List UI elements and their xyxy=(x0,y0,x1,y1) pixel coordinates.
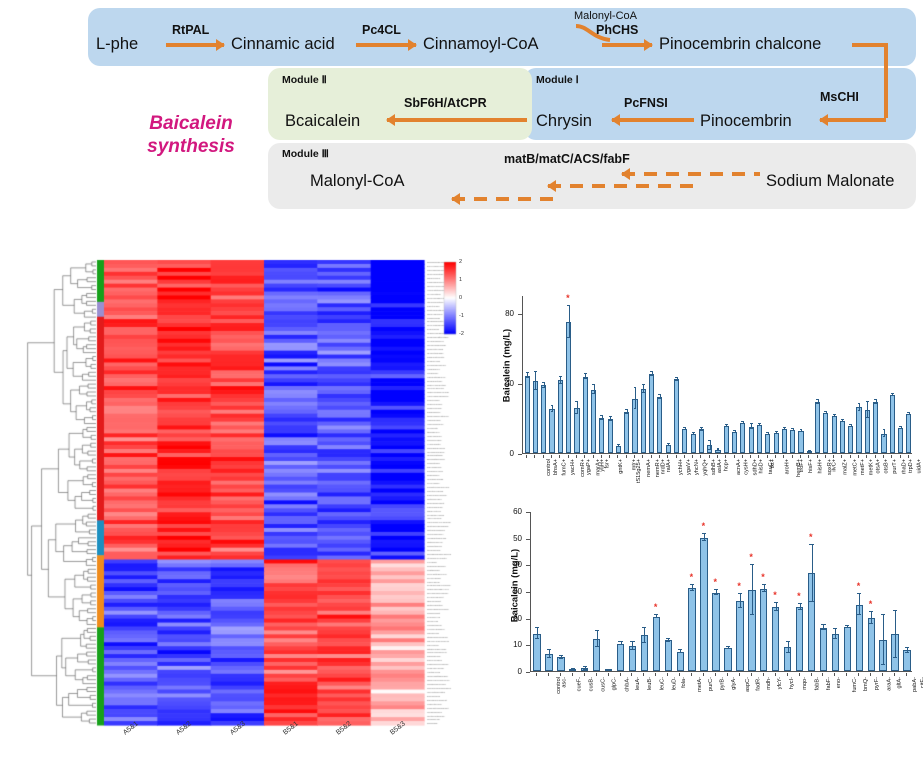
x-axis-tick xyxy=(620,673,621,676)
x-axis-tick xyxy=(584,673,585,676)
x-axis-tick xyxy=(551,455,552,458)
x-axis-tick xyxy=(692,455,693,458)
error-bar-cap xyxy=(634,387,637,388)
error-bar-cap xyxy=(733,432,736,433)
bar xyxy=(558,380,563,453)
x-axis-label: cysH+ xyxy=(744,459,750,475)
error-bar-cap xyxy=(559,376,562,377)
y-axis-tick xyxy=(518,454,522,455)
x-axis-label: glyA- xyxy=(730,677,736,690)
arrow-mschi xyxy=(820,118,886,122)
error-bar-cap xyxy=(683,427,686,428)
x-axis-tick xyxy=(601,455,602,458)
x-axis-label: malZ+ xyxy=(843,459,849,475)
significance-star: * xyxy=(737,582,741,591)
error-bar-cap xyxy=(849,426,852,427)
error-bar-cap xyxy=(617,444,620,445)
error-bar-cap xyxy=(654,617,658,618)
error-bar-cap xyxy=(575,413,578,414)
error-bar-cap xyxy=(692,432,695,433)
bar xyxy=(674,379,679,453)
error-bar-cap xyxy=(798,603,802,604)
bar xyxy=(757,425,762,453)
x-axis-tick xyxy=(534,455,535,458)
error-bar-cap xyxy=(600,419,603,420)
error-bar-cap xyxy=(609,420,612,421)
colorbar-tick-label: 1 xyxy=(459,277,462,283)
error-bar-cap xyxy=(866,417,869,418)
x-axis-label: hisF+ xyxy=(808,459,814,473)
significance-star: * xyxy=(654,603,658,612)
significance-star: * xyxy=(857,582,861,591)
error-bar-cap xyxy=(833,414,836,415)
bar xyxy=(856,407,861,453)
significance-star: * xyxy=(809,533,813,542)
error-bar-cap xyxy=(702,533,706,534)
error-bar xyxy=(535,372,536,390)
x-axis-label: ygaV+ xyxy=(686,459,692,475)
x-axis-tick xyxy=(543,455,544,458)
x-axis-label: mtr+ xyxy=(631,459,637,470)
y-axis-label: 40 xyxy=(488,379,514,388)
x-axis-tick xyxy=(703,673,704,676)
error-bar-cap xyxy=(833,416,836,417)
y-axis-label: 40 xyxy=(496,560,522,569)
error-bar-cap xyxy=(891,395,894,396)
arrow-phchs xyxy=(602,43,652,47)
x-axis-tick xyxy=(858,673,859,676)
error-bar xyxy=(740,594,741,608)
error-bar-cap xyxy=(625,409,628,410)
error-bar-cap xyxy=(899,426,902,427)
error-bar-cap xyxy=(617,446,620,447)
y-axis-tick xyxy=(526,565,530,566)
error-bar-cap xyxy=(535,638,539,639)
error-bar-cap xyxy=(725,426,728,427)
bar xyxy=(798,431,803,453)
x-axis-tick xyxy=(709,455,710,458)
error-bar-cap xyxy=(658,398,661,399)
error-bar-cap xyxy=(642,392,645,393)
bar xyxy=(906,414,911,453)
x-axis-tick xyxy=(609,455,610,458)
error-bar-cap xyxy=(893,657,897,658)
x-axis-label: eno- xyxy=(836,677,842,688)
x-axis-label: leuB- xyxy=(647,677,653,690)
y-axis-tick xyxy=(526,512,530,513)
error-bar-cap xyxy=(595,630,599,631)
x-axis-label: control xyxy=(555,677,561,694)
pathway-elbow-h xyxy=(852,43,888,47)
arrow-sbf6h-atcpr xyxy=(387,118,527,122)
x-axis-label: otsA+ xyxy=(875,459,881,473)
error-bar-cap xyxy=(733,430,736,431)
x-axis-tick xyxy=(679,673,680,676)
x-axis-label: control xyxy=(546,459,552,476)
error-bar-cap xyxy=(786,652,790,653)
arrow-module3-1 xyxy=(622,172,760,176)
x-axis-label: nemA+ xyxy=(646,459,652,477)
x-axis-label: aslA+ xyxy=(717,459,723,473)
error-bar-cap xyxy=(667,443,670,444)
error-bar-cap xyxy=(526,377,529,378)
x-axis-tick xyxy=(727,673,728,676)
x-axis-label: glpC- xyxy=(612,677,618,690)
x-axis-tick xyxy=(593,455,594,458)
x-axis-label: hisH+ xyxy=(817,459,823,473)
x-axis-tick xyxy=(882,673,883,676)
x-axis-tick xyxy=(758,455,759,458)
x-axis-label: bhsA+ xyxy=(553,459,559,475)
x-axis-label: fumC- xyxy=(852,677,858,692)
x-axis-label: uidA+ xyxy=(917,459,923,473)
error-bar xyxy=(883,615,884,666)
bar xyxy=(774,433,779,453)
x-axis-tick xyxy=(811,673,812,676)
metabolite-pinocembrin-chalcone: Pinocembrin chalcone xyxy=(659,35,821,54)
error-bar-cap xyxy=(808,451,811,452)
significance-star: * xyxy=(761,573,765,582)
bar xyxy=(653,617,660,671)
bar xyxy=(641,389,646,453)
error-bar-cap xyxy=(642,384,645,385)
error-bar-cap xyxy=(571,669,575,670)
x-axis-tick xyxy=(617,455,618,458)
error-bar-cap xyxy=(821,629,825,630)
significance-star: * xyxy=(690,573,694,582)
x-axis-label: fadR- xyxy=(755,677,761,691)
bar xyxy=(649,374,654,453)
y-axis-tick xyxy=(518,314,522,315)
error-bar-cap xyxy=(595,646,599,647)
x-axis-tick xyxy=(787,673,788,676)
bar xyxy=(533,381,538,453)
x-axis-label: fabF- xyxy=(826,677,832,690)
error-bar-cap xyxy=(575,401,578,402)
x-axis-tick xyxy=(883,455,884,458)
error-bar-cap xyxy=(738,607,742,608)
bar xyxy=(583,377,588,453)
x-axis-label: leuD- xyxy=(671,677,677,690)
bar xyxy=(736,601,743,671)
x-axis-tick xyxy=(548,673,549,676)
metabolite-pinocembrin: Pinocembrin xyxy=(700,112,792,131)
significance-star: * xyxy=(714,578,718,587)
significance-star: * xyxy=(749,553,753,562)
bar xyxy=(700,538,707,671)
x-axis-tick xyxy=(763,673,764,676)
colorbar-tick-label: 2 xyxy=(459,259,462,265)
bar xyxy=(782,429,787,453)
x-axis-tick xyxy=(634,455,635,458)
x-axis-label: aroH+ xyxy=(785,459,791,474)
error-bar-cap xyxy=(750,428,753,429)
x-axis-label: ralA+ xyxy=(666,459,672,472)
bar xyxy=(724,648,731,671)
bar-chart-knockout: Baicalein (mg/L) ************ controlasc… xyxy=(488,508,918,738)
error-bar-cap xyxy=(634,408,637,409)
error-bar-cap xyxy=(893,610,897,611)
bar xyxy=(848,426,853,453)
bar xyxy=(557,657,564,671)
bar xyxy=(740,423,745,453)
error-bar-cap xyxy=(845,625,849,626)
x-axis-label: pyrF- xyxy=(874,677,880,690)
x-axis-tick xyxy=(870,673,871,676)
error-bar-cap xyxy=(702,540,706,541)
error-bar-cap xyxy=(858,410,861,411)
x-axis-label: acnA+ xyxy=(736,459,742,475)
bar xyxy=(873,402,878,453)
error-bar-cap xyxy=(535,627,539,628)
x-axis-label: hcp+ xyxy=(724,459,730,471)
x-axis-label: hisD+ xyxy=(759,459,765,473)
significance-star: * xyxy=(869,600,873,609)
module-3-label: Module Ⅲ xyxy=(282,148,329,160)
x-axis-tick xyxy=(596,673,597,676)
error-bar-cap xyxy=(547,657,551,658)
x-axis-tick xyxy=(667,455,668,458)
x-axis-tick xyxy=(684,455,685,458)
error-bar-cap xyxy=(874,403,877,404)
x-axis-tick xyxy=(659,455,660,458)
bar-chart-overexpression: Baicalein (mg/L) * controlbhsA+fumC+yacH… xyxy=(488,292,918,502)
y-axis-tick xyxy=(526,619,530,620)
x-axis-label: yqhQ+ xyxy=(703,459,709,476)
x-axis-label: metK+ xyxy=(869,459,875,475)
error-bar-cap xyxy=(678,652,682,653)
x-axis-tick xyxy=(783,455,784,458)
bar xyxy=(599,418,604,453)
x-axis-tick xyxy=(767,455,768,458)
bar xyxy=(790,430,795,453)
metabolite-baicalein: Bcaicalein xyxy=(285,112,360,131)
significance-star: * xyxy=(797,592,801,601)
bar xyxy=(624,412,629,453)
error-bar-cap xyxy=(750,423,753,424)
y-axis-tick xyxy=(526,645,530,646)
x-axis-tick xyxy=(568,455,569,458)
x-axis-tick xyxy=(715,673,716,676)
error-bar-cap xyxy=(774,610,778,611)
arrow-pcfnsi xyxy=(612,118,694,122)
bar xyxy=(688,588,695,671)
arrow-module3-2 xyxy=(548,184,698,188)
error-bar-cap xyxy=(708,449,711,450)
error-bar-cap xyxy=(592,384,595,385)
x-axis-tick xyxy=(841,455,842,458)
x-axis-label: araA- xyxy=(887,677,893,691)
x-axis-tick xyxy=(642,455,643,458)
x-axis-tick xyxy=(700,455,701,458)
bar xyxy=(682,429,687,453)
bar xyxy=(832,634,839,671)
x-axis-label: metA- xyxy=(697,677,703,692)
module-2-label: Module Ⅱ xyxy=(282,74,327,86)
y-axis-label: 80 xyxy=(488,309,514,318)
x-axis-label: gntK+ xyxy=(618,459,624,474)
x-axis-label: otsB+ xyxy=(883,459,889,473)
error-bar xyxy=(895,611,896,657)
bar xyxy=(525,376,530,453)
x-axis-label: ilvC+ xyxy=(832,459,838,472)
error-bar-cap xyxy=(583,669,587,670)
error-bar xyxy=(597,631,598,647)
error-bar-cap xyxy=(567,305,570,306)
bar xyxy=(796,607,803,671)
error-bar-cap xyxy=(559,383,562,384)
error-bar-cap xyxy=(551,405,554,406)
error-bar-cap xyxy=(833,628,837,629)
error-bar-cap xyxy=(592,393,595,394)
error-bar-cap xyxy=(534,371,537,372)
figure-title-line2: synthesis xyxy=(147,136,235,157)
error-bar-cap xyxy=(583,666,587,667)
bar xyxy=(591,390,596,453)
chart-bottom-plot-area: ************ xyxy=(530,512,912,672)
error-bar-cap xyxy=(791,428,794,429)
error-bar-cap xyxy=(692,434,695,435)
error-bar-cap xyxy=(690,584,694,585)
x-axis-tick xyxy=(750,455,751,458)
bar xyxy=(712,593,719,671)
bar xyxy=(666,445,671,453)
error-bar-cap xyxy=(630,649,634,650)
x-axis-tick xyxy=(751,673,752,676)
y-axis-label: 50 xyxy=(496,534,522,543)
x-axis-label: tkt+ xyxy=(770,459,776,468)
error-bar-cap xyxy=(774,602,778,603)
error-bar-cap xyxy=(869,611,873,612)
bar xyxy=(691,434,696,453)
error-bar-cap xyxy=(666,641,670,642)
error-bar-cap xyxy=(618,641,622,642)
x-axis-tick xyxy=(906,673,907,676)
x-axis-tick xyxy=(792,455,793,458)
x-axis-label: sdhB+ xyxy=(711,459,717,475)
x-axis-label: ychH+ xyxy=(678,459,684,475)
error-bar-cap xyxy=(786,641,790,642)
x-axis-tick xyxy=(739,673,740,676)
y-axis-tick xyxy=(526,672,530,673)
x-axis-label: pyrB- xyxy=(719,677,725,690)
x-axis-label: yfcY- xyxy=(778,677,784,689)
x-axis-label: cusB- xyxy=(589,677,595,691)
error-bar-cap xyxy=(683,429,686,430)
error-bar-cap xyxy=(775,433,778,434)
error-bar-cap xyxy=(762,591,766,592)
colorbar-tick-label: -2 xyxy=(459,331,464,337)
x-axis-tick xyxy=(584,455,585,458)
error-bar-cap xyxy=(750,614,754,615)
arrow-module3-3 xyxy=(452,197,556,201)
bar xyxy=(566,322,571,453)
error-bar-cap xyxy=(766,434,769,435)
error-bar-cap xyxy=(584,373,587,374)
error-bar-cap xyxy=(618,644,622,645)
x-axis-label: fsr+ xyxy=(605,459,611,468)
error-bar-cap xyxy=(726,648,730,649)
error-bar-cap xyxy=(690,590,694,591)
error-bar-cap xyxy=(600,415,603,416)
bar xyxy=(898,428,903,453)
error-bar-cap xyxy=(675,377,678,378)
x-axis-label: purT+ xyxy=(892,459,898,474)
bar xyxy=(617,644,624,671)
x-axis-tick xyxy=(742,455,743,458)
bar xyxy=(616,446,621,453)
error-bar-cap xyxy=(658,394,661,395)
error-bar-cap xyxy=(857,614,861,615)
x-axis-tick xyxy=(576,455,577,458)
enzyme-sbf6h-atcpr: SbF6H/AtCPR xyxy=(404,96,487,110)
y-axis-label: 60 xyxy=(496,507,522,516)
enzyme-mschi: MsCHI xyxy=(820,90,859,104)
bar xyxy=(765,434,770,453)
error-bar-cap xyxy=(559,655,563,656)
error-bar-cap xyxy=(725,424,728,425)
enzyme-pcfnsi: PcFNSI xyxy=(624,96,668,110)
pathway-elbow-v xyxy=(884,43,888,118)
x-axis-tick xyxy=(667,673,668,676)
x-axis-tick xyxy=(808,455,809,458)
error-bar-cap xyxy=(858,403,861,404)
x-axis-label: bmQ- xyxy=(863,677,869,691)
error-bar-cap xyxy=(700,427,703,428)
error-bar-cap xyxy=(741,421,744,422)
error-bar xyxy=(569,306,570,338)
x-axis-label: aspC- xyxy=(744,677,750,692)
bar xyxy=(844,627,851,671)
error-bar-cap xyxy=(816,399,819,400)
x-axis-label: mqo- xyxy=(802,677,808,690)
error-bar-cap xyxy=(841,421,844,422)
x-axis-tick xyxy=(834,673,835,676)
error-bar-cap xyxy=(869,623,873,624)
x-axis-label: cueF- xyxy=(577,677,583,691)
x-axis-tick xyxy=(799,673,800,676)
error-bar-cap xyxy=(758,423,761,424)
x-axis-label: cusC- xyxy=(601,677,607,692)
error-bar-cap xyxy=(547,649,551,650)
x-axis-tick xyxy=(526,455,527,458)
x-axis-label: hycI- xyxy=(789,677,795,689)
x-axis-tick xyxy=(775,673,776,676)
x-axis-tick xyxy=(643,673,644,676)
error-bar-cap xyxy=(783,427,786,428)
x-axis-tick xyxy=(691,673,692,676)
error-bar-cap xyxy=(800,431,803,432)
error-bar-cap xyxy=(559,658,563,659)
metabolite-malonyl-coa: Malonyl-CoA xyxy=(310,172,404,191)
error-bar-cap xyxy=(630,641,634,642)
error-bar-cap xyxy=(714,589,718,590)
x-axis-label: fumC+ xyxy=(562,459,568,476)
figure-title: Baicalein synthesis xyxy=(138,112,244,158)
colorbar-tick-label: -1 xyxy=(459,313,464,319)
error-bar-cap xyxy=(726,646,730,647)
x-axis-tick xyxy=(651,455,652,458)
metabolite-cinnamoyl-coa: Cinnamoyl-CoA xyxy=(423,35,539,54)
error-bar-cap xyxy=(891,393,894,394)
bar xyxy=(657,397,662,453)
error-bar-cap xyxy=(883,429,886,430)
error-bar xyxy=(752,565,753,615)
x-axis-label: folа- xyxy=(681,677,687,688)
y-axis-tick xyxy=(518,384,522,385)
y-axis-tick xyxy=(526,592,530,593)
error-bar-cap xyxy=(857,593,861,594)
